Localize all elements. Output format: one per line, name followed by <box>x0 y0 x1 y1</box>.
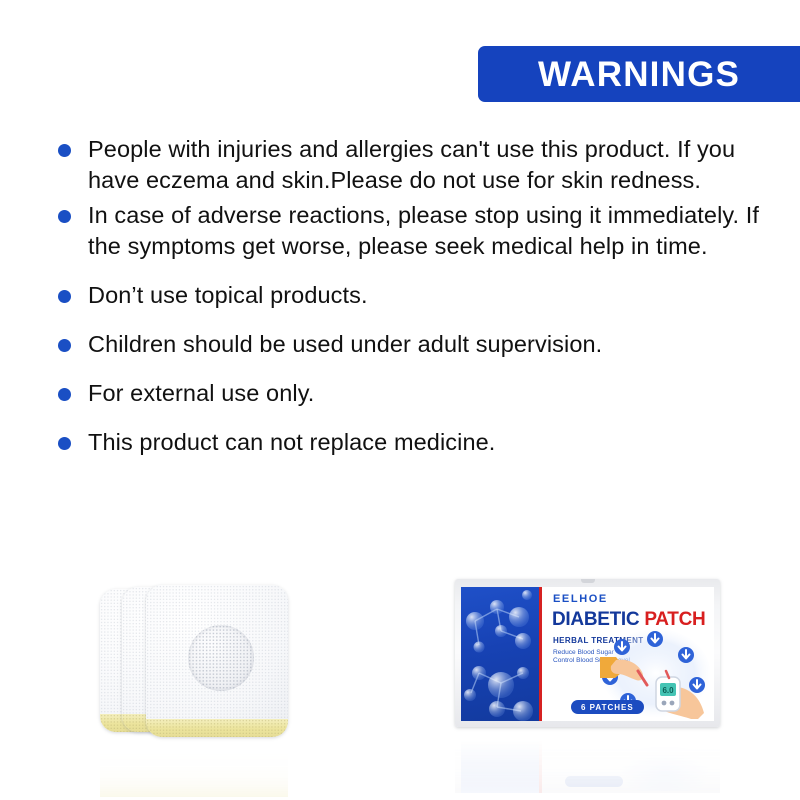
tear-notch-icon <box>581 579 595 583</box>
quantity-badge: 6 PATCHES <box>571 700 644 714</box>
patch-reflection <box>100 739 310 797</box>
molecule-panel <box>461 587 539 721</box>
brand-name: EELHOE <box>553 593 608 605</box>
sachet-body: EELHOE DIABETIC PATCH HERBAL TREATMENT R… <box>455 579 720 727</box>
warning-text: In case of adverse reactions, please sto… <box>88 200 772 262</box>
package-reflection <box>455 731 720 793</box>
warnings-infographic: WARNINGS People with injuries and allerg… <box>0 0 800 800</box>
label-content: EELHOE DIABETIC PATCH HERBAL TREATMENT R… <box>547 587 714 721</box>
bullet-icon <box>58 144 71 157</box>
patch-stack-photo <box>100 583 310 798</box>
svg-text:6.0: 6.0 <box>662 686 674 695</box>
warning-text: For external use only. <box>88 378 772 409</box>
warning-text: Don’t use topical products. <box>88 280 772 311</box>
warning-text: Children should be used under adult supe… <box>88 329 772 360</box>
patch-front <box>146 585 288 737</box>
list-item: For external use only. <box>50 378 772 409</box>
bullet-icon <box>58 339 71 352</box>
warnings-list: People with injuries and allergies can't… <box>50 134 772 462</box>
list-item: Don’t use topical products. <box>50 280 772 311</box>
warnings-banner: WARNINGS <box>478 46 800 102</box>
bullet-icon <box>58 210 71 223</box>
bullet-icon <box>58 290 71 303</box>
patch-adhesive-strip <box>146 719 288 737</box>
list-item: In case of adverse reactions, please sto… <box>50 200 772 262</box>
red-divider <box>539 587 542 721</box>
warning-text: People with injuries and allergies can't… <box>88 134 772 196</box>
package-photo: EELHOE DIABETIC PATCH HERBAL TREATMENT R… <box>455 579 720 799</box>
warning-text: This product can not replace medicine. <box>88 427 772 458</box>
sachet-label: EELHOE DIABETIC PATCH HERBAL TREATMENT R… <box>461 587 714 721</box>
patch-center-pad <box>188 625 254 691</box>
list-item: People with injuries and allergies can't… <box>50 134 772 196</box>
bullet-icon <box>58 437 71 450</box>
product-images: EELHOE DIABETIC PATCH HERBAL TREATMENT R… <box>0 565 800 800</box>
banner-title: WARNINGS <box>538 57 740 92</box>
list-item: Children should be used under adult supe… <box>50 329 772 360</box>
bullet-icon <box>58 388 71 401</box>
list-item: This product can not replace medicine. <box>50 427 772 458</box>
